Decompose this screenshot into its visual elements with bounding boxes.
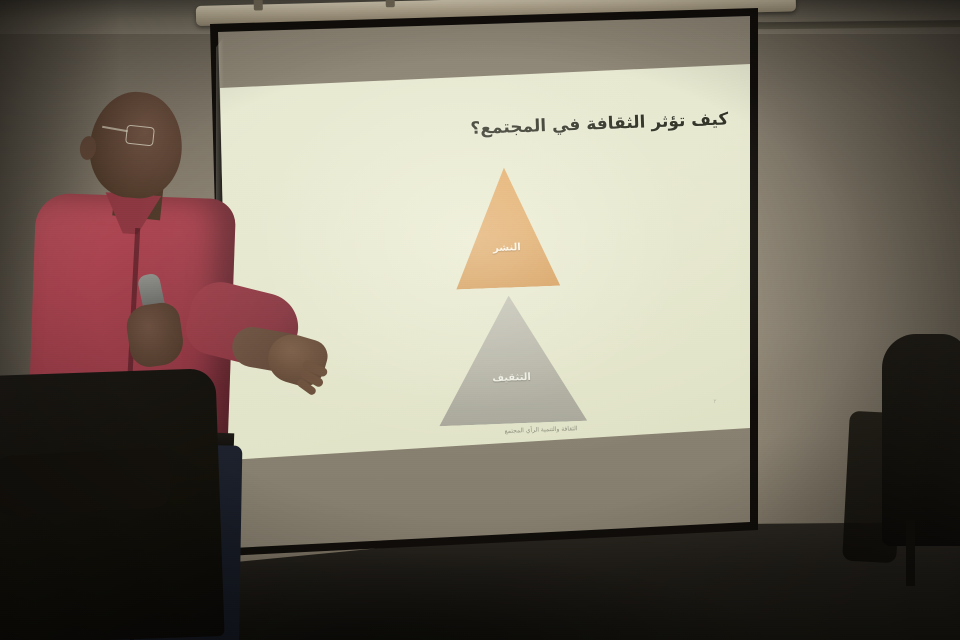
- glasses-icon: [125, 125, 155, 147]
- pyramid-level-top: النشر: [452, 166, 560, 290]
- pyramid-level-top-label: النشر: [493, 242, 522, 288]
- slide-title: كيف تؤثر الثقافة في المجتمع؟: [470, 109, 729, 138]
- pyramid-level-bottom-label: التثقيف: [492, 372, 532, 424]
- slide-caption: الثقافة والتنمية الرأي المجتمع: [504, 425, 577, 435]
- slide-page-mark: ٢: [713, 398, 716, 405]
- chair-foreground-right: [882, 334, 960, 546]
- chair-armrest-left: [0, 447, 171, 516]
- roller-bracket-right: [386, 0, 395, 7]
- lecture-room-photo: كيف تؤثر الثقافة في المجتمع؟ النشر التثق…: [0, 0, 960, 640]
- presenter-head: [86, 88, 187, 202]
- pyramid-level-bottom: التثقيف: [435, 293, 588, 426]
- chair-leg-right: [906, 520, 915, 586]
